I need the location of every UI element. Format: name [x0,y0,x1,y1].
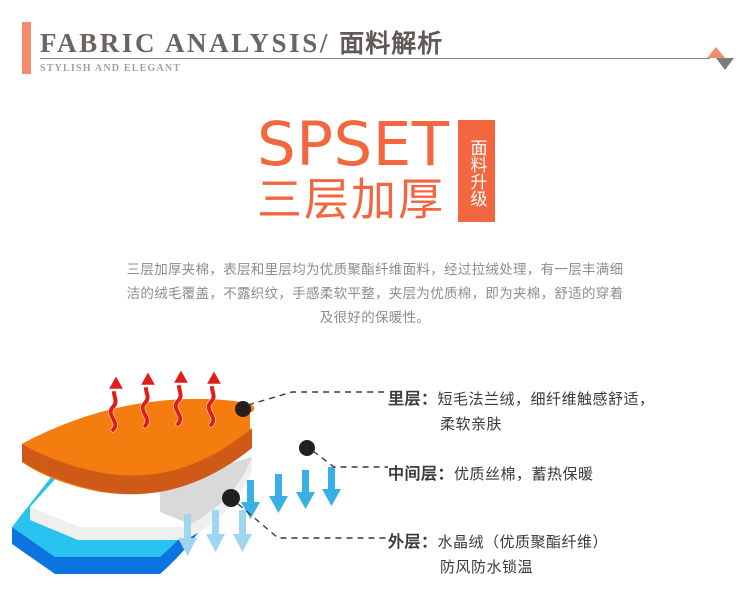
brand-tagline: 三层加厚 [257,174,445,226]
connector-dot-middle [299,440,315,456]
label-middle-head: 中间层： [388,464,454,483]
connector-dot-outer [222,489,240,507]
upgrade-badge: 面料升级 [458,120,495,222]
page-title-cn: 面料解析 [339,29,443,58]
triangle-up-icon [707,47,725,58]
fabric-description: 三层加厚夹棉，表层和里层均为优质聚酯纤维面料，经过拉绒处理，有一层丰满细洁的绒毛… [120,258,630,330]
page-title: FABRIC ANALYSIS/ 面料解析 [40,24,443,60]
label-outer-layer: 外层：水晶绒（优质聚酯纤维） 防风防水锁温 [388,529,608,580]
cold-arrow-light-group [178,510,252,556]
label-outer-line2: 防风防水锁温 [440,555,608,580]
header-accent-bar [22,22,31,74]
label-inner-head: 里层： [388,389,438,408]
connector-lines [238,392,388,538]
connector-dot-inner [235,401,251,417]
label-outer-body: 水晶绒（优质聚酯纤维） [438,533,609,551]
label-inner-body: 短毛法兰绒，细纤维触感舒适， [438,390,655,408]
page-title-en: FABRIC ANALYSIS/ [40,28,330,58]
label-inner-line2: 柔软亲肤 [440,412,655,437]
brand-logo-block: SPSET 三层加厚 面料升级 [255,112,505,230]
brand-name: SPSET [257,112,450,178]
label-outer-head: 外层： [388,532,438,551]
label-inner-layer: 里层：短毛法兰绒，细纤维触感舒适， 柔软亲肤 [388,386,655,437]
page-subtitle: STYLISH AND ELEGANT [40,63,181,74]
fabric-layer-diagram [0,352,400,602]
header-divider [40,58,710,59]
triangle-down-icon [716,58,734,70]
page-header: FABRIC ANALYSIS/ 面料解析 STYLISH AND ELEGAN… [0,0,750,92]
label-middle-layer: 中间层：优质丝棉，蓄热保暖 [388,463,594,485]
cold-arrow-dark-group [241,467,341,519]
label-middle-body: 优质丝棉，蓄热保暖 [454,465,594,483]
